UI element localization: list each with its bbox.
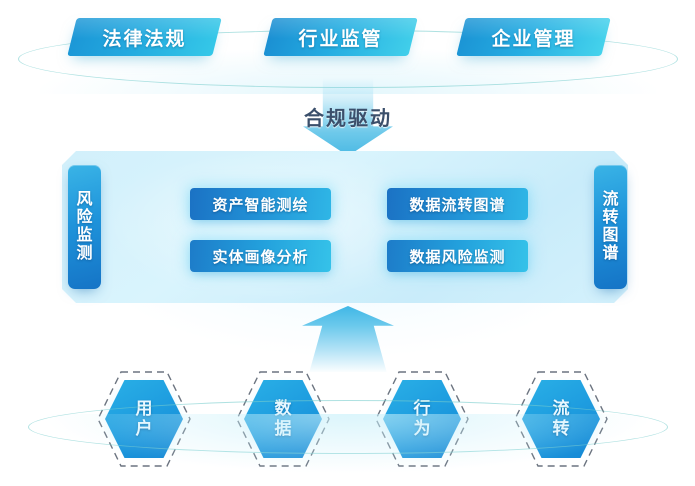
- banner-label: 行业监管: [298, 24, 382, 51]
- banner-label: 法律法规: [102, 24, 186, 51]
- capability-chip-entity-profile-analysis[interactable]: 实体画像分析: [190, 240, 331, 272]
- bottom-orbit-ellipse: [28, 400, 668, 454]
- capability-chip-data-flow-graph[interactable]: 数据流转图谱: [387, 188, 528, 220]
- top-banner-group: 法律法规 行业监管 企业管理: [0, 18, 695, 60]
- side-label-flow-graph[interactable]: 流 转 图 谱: [594, 165, 627, 289]
- compliance-driver-label: 合规驱动: [253, 102, 443, 131]
- side-label-char: 测: [76, 245, 92, 263]
- side-label-risk-monitoring[interactable]: 风 险 监 测: [68, 165, 101, 289]
- center-capability-panel: [62, 151, 628, 303]
- banner-enterprise-management[interactable]: 企业管理: [461, 18, 606, 56]
- capability-chip-data-risk-monitoring[interactable]: 数据风险监测: [387, 240, 528, 272]
- banner-industry-supervision[interactable]: 行业监管: [268, 18, 413, 56]
- side-label-char: 险: [76, 209, 92, 227]
- side-label-char: 谱: [602, 245, 618, 263]
- banner-laws-and-regulations[interactable]: 法律法规: [72, 18, 217, 56]
- side-label-char: 流: [602, 191, 618, 209]
- side-label-char: 风: [76, 191, 92, 209]
- capability-chip-asset-mapping[interactable]: 资产智能测绘: [190, 188, 331, 220]
- side-label-char: 监: [76, 227, 92, 245]
- side-label-char: 转: [602, 209, 618, 227]
- banner-label: 企业管理: [491, 24, 575, 51]
- side-label-char: 图: [602, 227, 618, 245]
- diagram-canvas: 法律法规 行业监管 企业管理 合规驱动 风 险 监 测 流 转 图 谱 资产智能…: [0, 0, 695, 486]
- arrow-up-icon: [302, 306, 394, 372]
